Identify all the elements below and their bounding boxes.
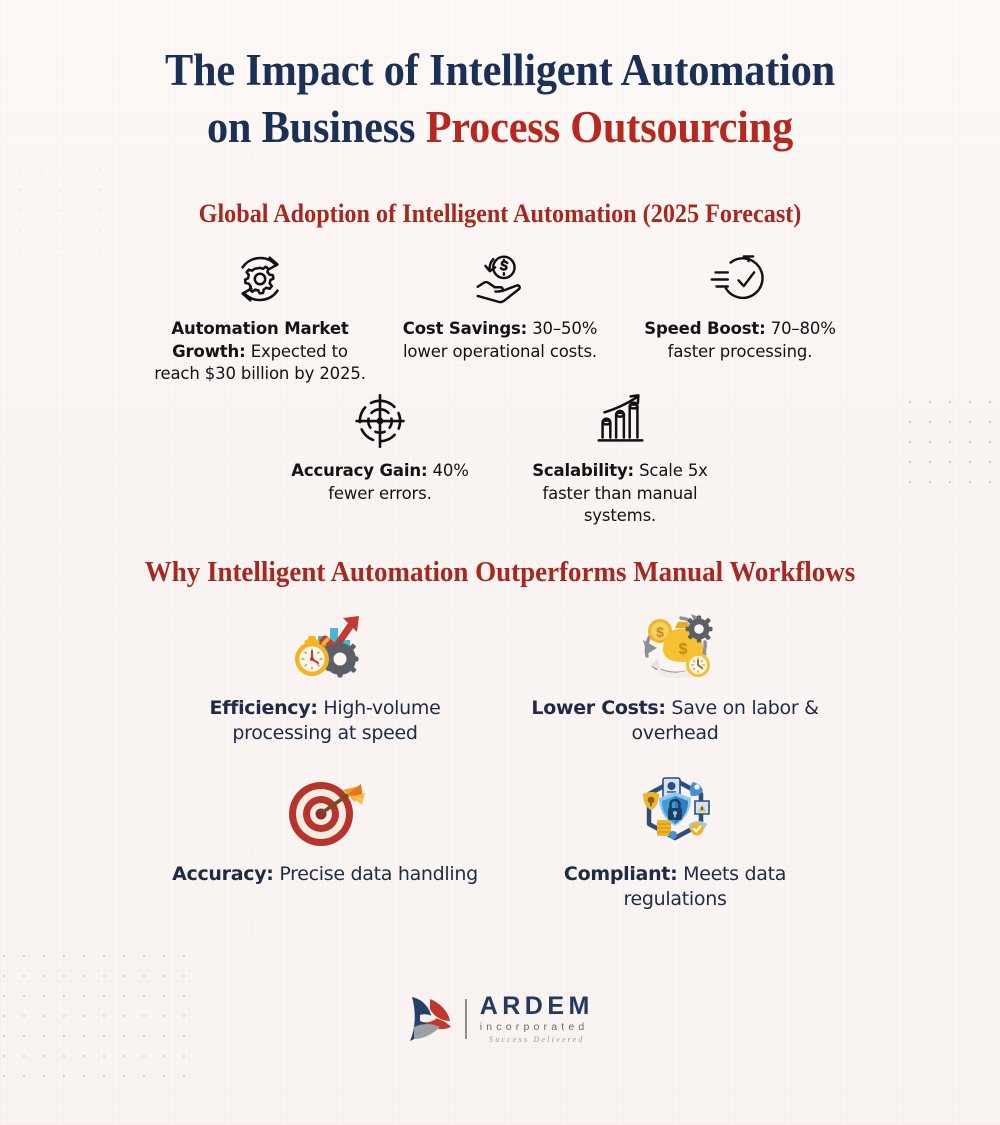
stat-automation-market-growth: Automation Market Growth: Expected to re… (140, 248, 380, 386)
benefit-text: Efficiency: High-volume processing at sp… (164, 696, 486, 746)
ardem-logo-mark-icon (406, 993, 452, 1045)
stat-text: Scalability: Scale 5x faster than manual… (508, 460, 732, 528)
dartboard-arrow-icon (164, 770, 486, 852)
benefits-row-1: Efficiency: High-volume processing at sp… (150, 604, 850, 746)
stopwatch-check-icon (628, 248, 852, 310)
section-heading-why: Why Intelligent Automation Outperforms M… (35, 556, 965, 589)
gear-cycle-icon (148, 248, 372, 310)
stat-text: Cost Savings: 30–50% lower operational c… (388, 318, 612, 363)
stat-accuracy-gain: Accuracy Gain: 40% fewer errors. (260, 390, 500, 528)
stats-row-primary: Automation Market Growth: Expected to re… (120, 248, 880, 386)
stat-label: Speed Boost: (644, 319, 765, 338)
stat-label: Scalability: (532, 461, 634, 480)
benefit-label: Lower Costs: (531, 697, 665, 719)
logo-divider (465, 999, 467, 1039)
logo-name: ARDEM (480, 994, 594, 1019)
stat-text: Speed Boost: 70–80% faster processing. (628, 318, 852, 363)
ardem-logo: ARDEM incorporated Success Delivered (0, 993, 1000, 1045)
hand-dollar-icon (388, 248, 612, 310)
benefit-efficiency: Efficiency: High-volume processing at sp… (150, 604, 500, 746)
svg-text:$: $ (656, 624, 664, 640)
benefit-label: Compliant: (564, 863, 677, 885)
dot-pattern-right (900, 392, 1000, 496)
logo-subtitle: incorporated (480, 1020, 594, 1034)
page-title-line-2: on Business Process Outsourcing (30, 99, 970, 156)
stats-row-secondary: Accuracy Gain: 40% fewer errors. Scalabi… (240, 390, 760, 528)
growth-bars-icon (508, 390, 732, 452)
benefits-row-2: Accuracy: Precise data handling (150, 770, 850, 912)
benefit-label: Accuracy: (172, 863, 274, 885)
benefit-label: Efficiency: (209, 697, 317, 719)
stopwatch-gear-chart-icon (164, 604, 486, 686)
benefit-text: Lower Costs: Save on labor & overhead (514, 696, 836, 746)
page-title-line-2-accent: Process Outsourcing (426, 102, 793, 152)
svg-text:$: $ (679, 641, 688, 658)
logo-text-block: ARDEM incorporated Success Delivered (480, 994, 594, 1045)
benefit-accuracy: Accuracy: Precise data handling (150, 770, 500, 912)
benefit-text: Accuracy: Precise data handling (164, 862, 486, 887)
stat-text: Automation Market Growth: Expected to re… (148, 318, 372, 386)
stat-text: Accuracy Gain: 40% fewer errors. (268, 460, 492, 505)
benefit-value: Precise data handling (274, 863, 478, 885)
benefit-compliant: Compliant: Meets data regulations (500, 770, 850, 912)
infographic-page: The Impact of Intelligent Automation on … (0, 0, 1000, 1125)
stat-label: Cost Savings: (403, 319, 527, 338)
shield-lock-network-icon (514, 770, 836, 852)
page-title-line-1: The Impact of Intelligent Automation (30, 42, 970, 99)
stat-label: Accuracy Gain: (291, 461, 427, 480)
stat-cost-savings: Cost Savings: 30–50% lower operational c… (380, 248, 620, 386)
money-bag-cycle-icon: $ $ (514, 604, 836, 686)
benefits-grid: Efficiency: High-volume processing at sp… (150, 604, 850, 912)
crosshair-target-icon (268, 390, 492, 452)
stat-speed-boost: Speed Boost: 70–80% faster processing. (620, 248, 860, 386)
benefit-text: Compliant: Meets data regulations (514, 862, 836, 912)
page-title-line-2-plain: on Business (207, 102, 426, 152)
stat-scalability: Scalability: Scale 5x faster than manual… (500, 390, 740, 528)
logo-tagline: Success Delivered (480, 1034, 594, 1045)
benefit-lower-costs: $ $ (500, 604, 850, 746)
page-title: The Impact of Intelligent Automation on … (30, 42, 970, 156)
section-heading-adoption: Global Adoption of Intelligent Automatio… (35, 199, 965, 229)
